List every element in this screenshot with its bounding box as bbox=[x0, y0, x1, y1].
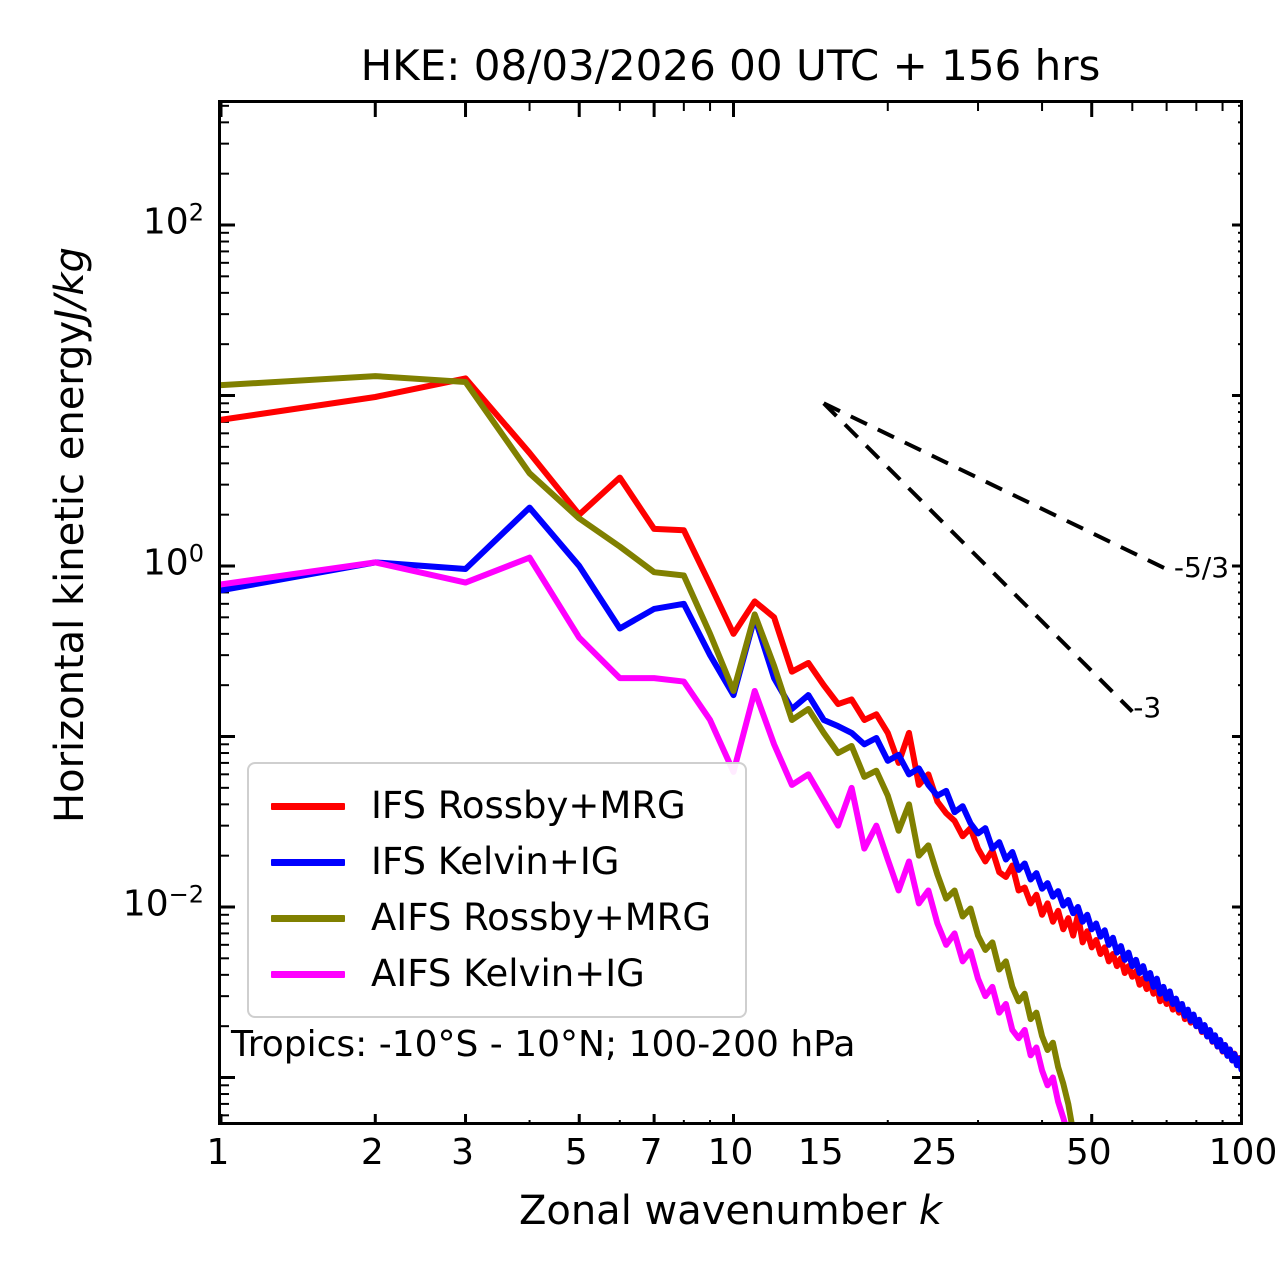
legend-color-swatch bbox=[271, 803, 345, 810]
x-axis-label-main: Zonal wavenumber bbox=[519, 1188, 919, 1234]
legend-color-swatch bbox=[271, 915, 345, 922]
y-tick-label: 102 bbox=[143, 202, 204, 243]
x-tick-label: 25 bbox=[912, 1132, 958, 1173]
legend-item-label: AIFS Rossby+MRG bbox=[371, 898, 711, 938]
y-tick-label: 100 bbox=[143, 543, 204, 584]
x-tick-label: 7 bbox=[640, 1132, 663, 1173]
reference-line-five-thirds bbox=[824, 403, 1173, 572]
legend-item-0[interactable]: IFS Rossby+MRG bbox=[249, 778, 745, 834]
legend-item-label: AIFS Kelvin+IG bbox=[371, 954, 645, 994]
slope-label-five-thirds: -5/3 bbox=[1174, 551, 1229, 584]
legend-item-2[interactable]: AIFS Rossby+MRG bbox=[249, 890, 745, 946]
legend: IFS Rossby+MRGIFS Kelvin+IGAIFS Rossby+M… bbox=[247, 762, 747, 1018]
x-axis-label: Zonal wavenumber k bbox=[218, 1188, 1243, 1234]
slope-label-minus-three: -3 bbox=[1133, 691, 1161, 724]
y-axis-label-main: Horizontal kinetic energy bbox=[47, 321, 93, 823]
legend-color-swatch bbox=[271, 859, 345, 866]
y-tick-label: 10−2 bbox=[123, 884, 204, 925]
y-axis-label-units: J/kg bbox=[47, 247, 93, 321]
x-tick-label: 1 bbox=[207, 1132, 230, 1173]
x-tick-label: 100 bbox=[1209, 1132, 1278, 1173]
region-caption: Tropics: -10°S - 10°N; 100-200 hPa bbox=[231, 1024, 855, 1065]
legend-color-swatch bbox=[271, 971, 345, 978]
legend-item-1[interactable]: IFS Kelvin+IG bbox=[249, 834, 745, 890]
legend-item-label: IFS Rossby+MRG bbox=[371, 786, 686, 826]
x-tick-label: 15 bbox=[798, 1132, 844, 1173]
figure-canvas: HKE: 08/03/2026 00 UTC + 156 hrs Horizon… bbox=[0, 0, 1280, 1288]
y-axis-label: Horizontal kinetic energy J/kg bbox=[40, 155, 100, 915]
reference-line-minus-three bbox=[824, 403, 1133, 711]
x-tick-label: 5 bbox=[565, 1132, 588, 1173]
x-tick-label: 50 bbox=[1066, 1132, 1112, 1173]
x-tick-label: 2 bbox=[361, 1132, 384, 1173]
chart-title: HKE: 08/03/2026 00 UTC + 156 hrs bbox=[218, 42, 1243, 90]
legend-item-3[interactable]: AIFS Kelvin+IG bbox=[249, 946, 745, 1002]
x-axis-label-symbol: k bbox=[919, 1188, 942, 1234]
reference-lines bbox=[824, 403, 1173, 711]
legend-item-label: IFS Kelvin+IG bbox=[371, 842, 619, 882]
x-tick-label: 3 bbox=[451, 1132, 474, 1173]
x-tick-label: 10 bbox=[708, 1132, 754, 1173]
